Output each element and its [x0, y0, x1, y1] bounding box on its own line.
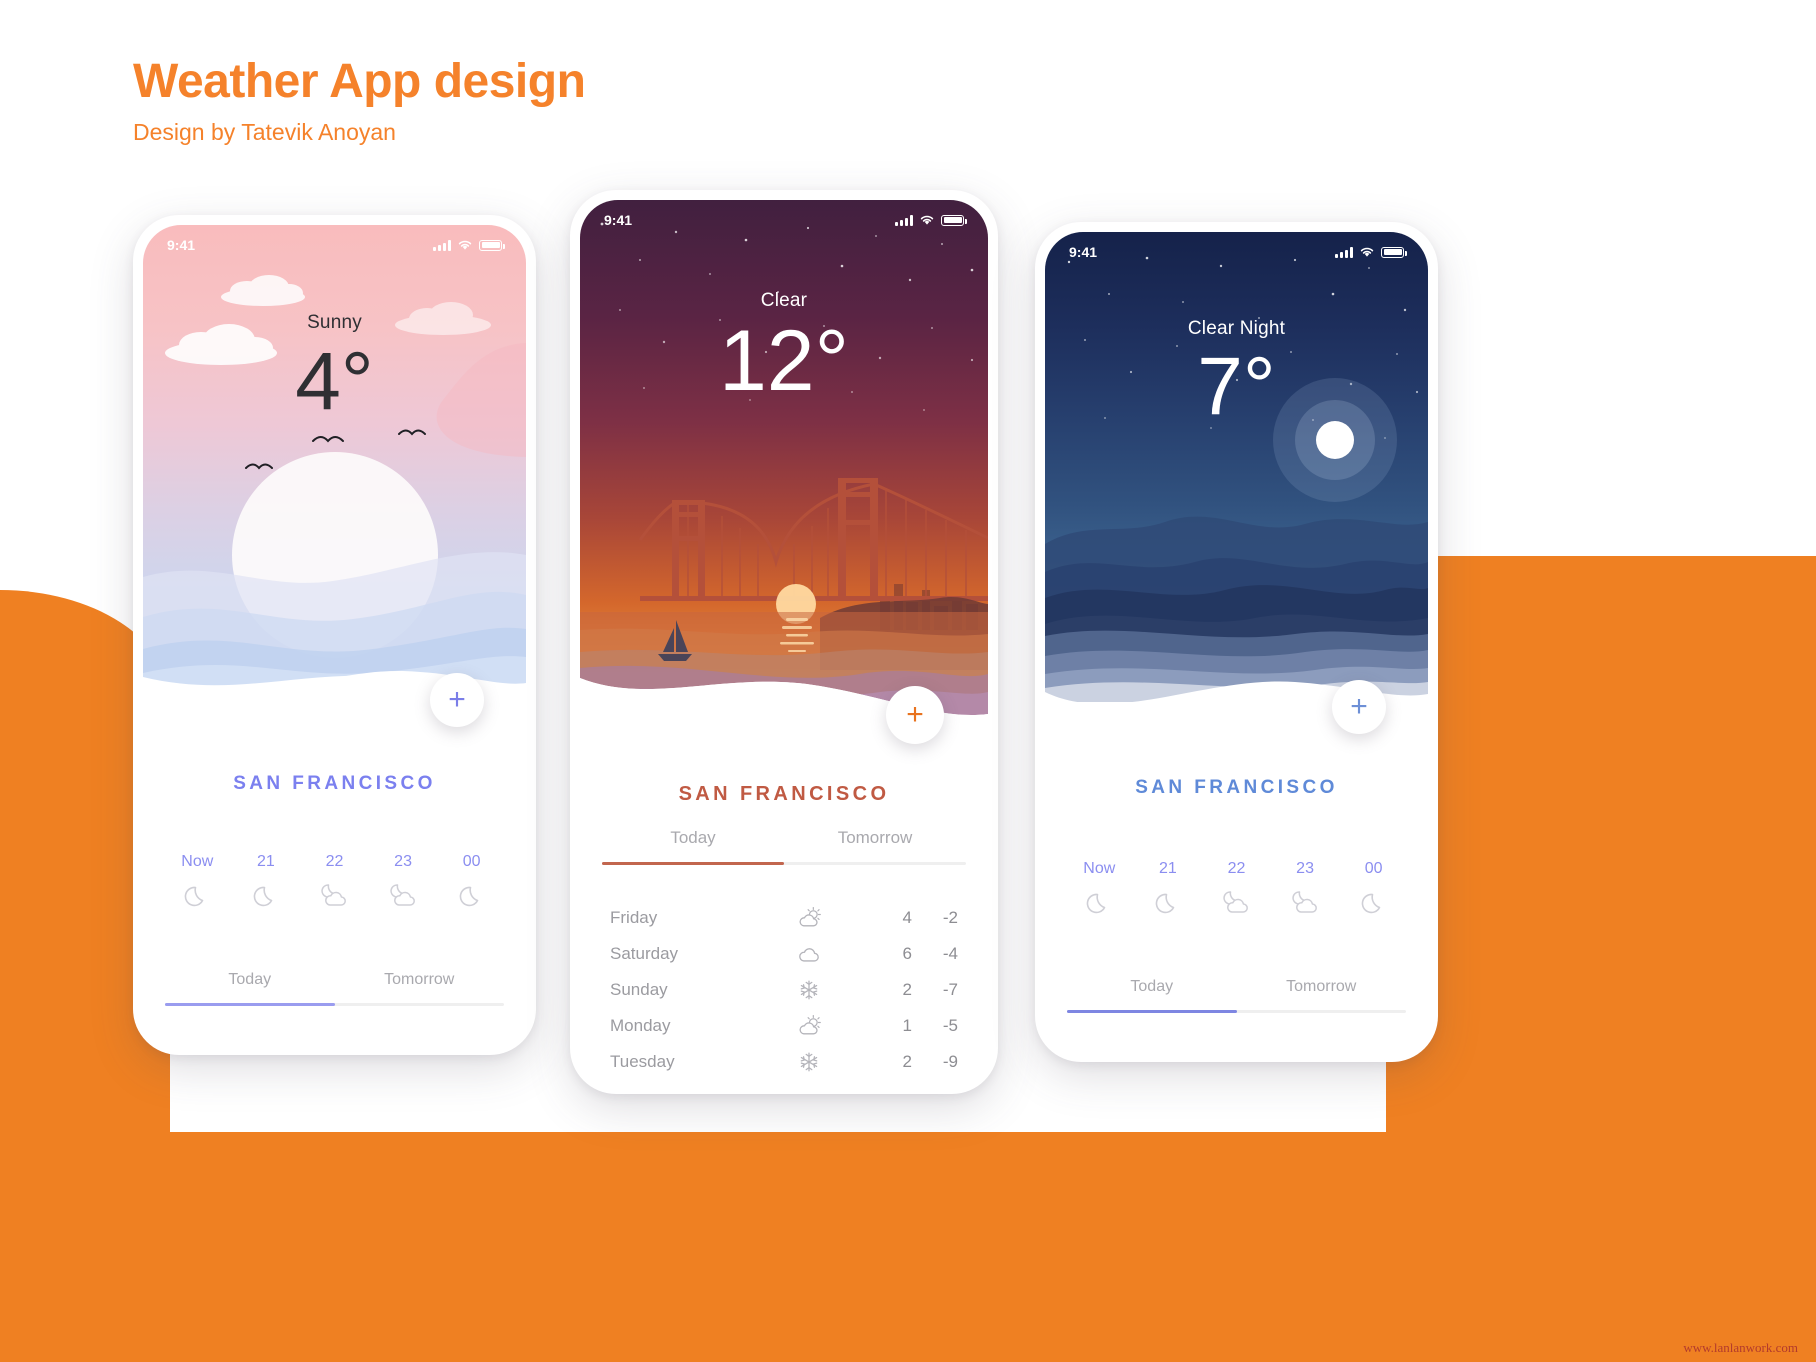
hourly-item[interactable]: 23 — [369, 853, 438, 911]
moon-icon — [1359, 888, 1389, 918]
forecast-row[interactable]: Friday 4 -2 — [610, 900, 958, 936]
page-title: Weather App design — [133, 56, 585, 109]
condition-label: Clear — [580, 290, 988, 312]
forecast-low: -7 — [936, 980, 958, 1000]
status-time: 9:41 — [604, 212, 632, 228]
forecast-high: 2 — [890, 980, 912, 1000]
status-bar: 9:41 — [143, 237, 526, 253]
moon-icon — [182, 881, 212, 911]
hourly-forecast-row: Now 21 22 23 — [143, 853, 526, 911]
status-time: 9:41 — [167, 237, 195, 253]
forecast-low: -5 — [936, 1016, 958, 1036]
moon-behind-cloud-icon — [319, 881, 349, 911]
temperature-value: 12° — [580, 312, 988, 411]
page-subtitle: Design by Tatevik Anoyan — [133, 119, 585, 146]
hourly-forecast-row: Now 21 22 23 — [1045, 860, 1428, 918]
battery-icon — [1381, 247, 1404, 258]
watermark: www.lanlanwork.com — [1683, 1340, 1798, 1356]
hourly-item[interactable]: Now — [163, 853, 232, 911]
moon-icon — [1153, 888, 1183, 918]
forecast-row[interactable]: Monday 1 -5 — [610, 1008, 958, 1044]
moon-icon — [1084, 888, 1114, 918]
hourly-item[interactable]: 22 — [300, 853, 369, 911]
daily-forecast-list: Friday 4 -2 — [580, 900, 988, 1080]
forecast-day: Saturday — [610, 944, 760, 964]
hour-label: Now — [1065, 860, 1134, 878]
tab-today[interactable]: Today — [1067, 978, 1237, 1010]
city-name: SAN FRANCISCO — [143, 773, 526, 795]
moon-icon — [251, 881, 281, 911]
moon-behind-cloud-icon — [1221, 888, 1251, 918]
hour-label: 00 — [437, 853, 506, 871]
hourly-item[interactable]: 23 — [1271, 860, 1340, 918]
page-header: Weather App design Design by Tatevik Ano… — [133, 56, 585, 146]
tab-tomorrow[interactable]: Tomorrow — [1237, 978, 1407, 1010]
battery-icon — [941, 215, 964, 226]
status-bar: 9:41 — [1045, 244, 1428, 260]
day-tabs: Today Tomorrow — [143, 971, 526, 1006]
moon-behind-cloud-icon — [1290, 888, 1320, 918]
condition-label: Sunny — [143, 312, 526, 334]
forecast-low: -9 — [936, 1052, 958, 1072]
forecast-row[interactable]: Sunday — [610, 972, 958, 1008]
tab-indicator — [1067, 1010, 1406, 1013]
wifi-icon — [1359, 246, 1375, 258]
phone-mockup-sunny: 9:41 Sunny 4° + SAN FRANCISCO — [133, 215, 536, 1055]
wifi-icon — [919, 214, 935, 226]
background-orange-right — [1386, 556, 1816, 1362]
forecast-day: Sunday — [610, 980, 760, 1000]
hourly-item[interactable]: 21 — [232, 853, 301, 911]
signal-bars-icon — [433, 240, 451, 251]
forecast-low: -2 — [936, 908, 958, 928]
hour-label: Now — [163, 853, 232, 871]
sun-behind-cloud-icon — [760, 905, 858, 931]
add-location-button[interactable]: + — [886, 686, 944, 744]
hour-label: 00 — [1339, 860, 1408, 878]
tab-indicator — [165, 1003, 504, 1006]
hour-label: 22 — [300, 853, 369, 871]
add-location-button[interactable]: + — [1332, 680, 1386, 734]
status-time: 9:41 — [1069, 244, 1097, 260]
tab-tomorrow[interactable]: Tomorrow — [784, 828, 966, 862]
screen-clear: 9:41 Clear 12° + SAN FRANCISCO — [580, 200, 988, 1084]
forecast-high: 2 — [890, 1052, 912, 1072]
signal-bars-icon — [895, 215, 913, 226]
day-tabs: Today Tomorrow — [580, 828, 988, 865]
plus-icon: + — [906, 700, 924, 730]
battery-icon — [479, 240, 502, 251]
moon-icon — [457, 881, 487, 911]
city-name: SAN FRANCISCO — [1045, 777, 1428, 799]
phone-mockup-clear-night: 9:41 Clear Night 7° + SAN FRANCISCO — [1035, 222, 1438, 1062]
forecast-row[interactable]: Tuesday — [610, 1044, 958, 1080]
forecast-high: 4 — [890, 908, 912, 928]
cloud-icon — [760, 941, 858, 967]
temperature-value: 7° — [1045, 340, 1428, 434]
city-name: SAN FRANCISCO — [580, 783, 988, 806]
forecast-day: Tuesday — [610, 1052, 760, 1072]
forecast-day: Monday — [610, 1016, 760, 1036]
tab-tomorrow[interactable]: Tomorrow — [335, 971, 505, 1003]
hour-label: 23 — [1271, 860, 1340, 878]
condition-label: Clear Night — [1045, 318, 1428, 340]
signal-bars-icon — [1335, 247, 1353, 258]
forecast-high: 1 — [890, 1016, 912, 1036]
forecast-day: Friday — [610, 908, 760, 928]
plus-icon: + — [448, 685, 466, 715]
hour-label: 21 — [232, 853, 301, 871]
phone-mockup-clear: 9:41 Clear 12° + SAN FRANCISCO — [570, 190, 998, 1094]
forecast-low: -4 — [936, 944, 958, 964]
tab-today[interactable]: Today — [165, 971, 335, 1003]
moon-behind-cloud-icon — [388, 881, 418, 911]
snowflake-icon — [760, 1050, 858, 1074]
hour-label: 23 — [369, 853, 438, 871]
sun-behind-cloud-icon — [760, 1013, 858, 1039]
tab-indicator — [602, 862, 966, 865]
snowflake-icon — [760, 978, 858, 1002]
hero-illustration-clear: 9:41 — [580, 200, 988, 730]
tab-today[interactable]: Today — [602, 828, 784, 862]
hour-label: 21 — [1134, 860, 1203, 878]
screen-clear-night: 9:41 Clear Night 7° + SAN FRANCISCO — [1045, 232, 1428, 1052]
add-location-button[interactable]: + — [430, 673, 484, 727]
hourly-item[interactable]: Now — [1065, 860, 1134, 918]
temperature-value: 4° — [143, 335, 526, 429]
day-tabs: Today Tomorrow — [1045, 978, 1428, 1013]
plus-icon: + — [1350, 692, 1368, 722]
golden-gate-scene-svg — [580, 200, 988, 730]
status-bar: 9:41 — [580, 212, 988, 228]
screen-sunny: 9:41 Sunny 4° + SAN FRANCISCO — [143, 225, 526, 1045]
hour-label: 22 — [1202, 860, 1271, 878]
hourly-item[interactable]: 21 — [1134, 860, 1203, 918]
hourly-item[interactable]: 22 — [1202, 860, 1271, 918]
hourly-item[interactable]: 00 — [437, 853, 506, 911]
wifi-icon — [457, 239, 473, 251]
forecast-high: 6 — [890, 944, 912, 964]
hourly-item[interactable]: 00 — [1339, 860, 1408, 918]
forecast-row[interactable]: Saturday 6 -4 — [610, 936, 958, 972]
